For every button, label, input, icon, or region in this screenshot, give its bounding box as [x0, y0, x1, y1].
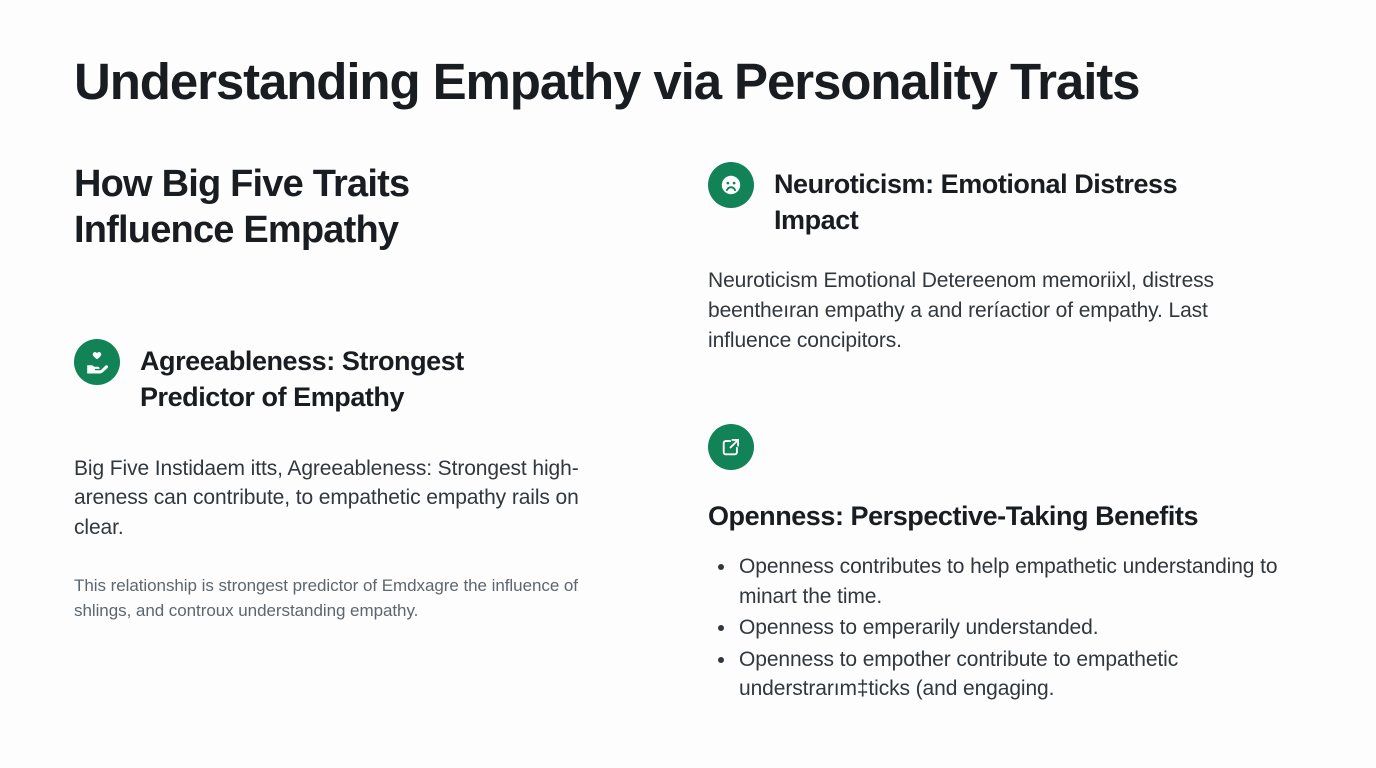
external-link-icon — [708, 424, 754, 470]
hand-holding-heart-icon — [74, 339, 120, 385]
neuroticism-block: Neuroticism: Emotional Distress Impact N… — [708, 162, 1348, 356]
openness-block-head: Openness: Perspective-Taking Benefits — [708, 424, 1348, 535]
left-column: How Big Five Traits Influence Empathy Ag… — [74, 162, 674, 623]
agreeableness-block-head: Agreeableness: Strongest Predictor of Em… — [74, 339, 650, 415]
left-section-heading: How Big Five Traits Influence Empathy — [74, 162, 544, 253]
neuroticism-title: Neuroticism: Emotional Distress Impact — [774, 162, 1204, 238]
list-item: Openness to empother contribute to empat… — [708, 645, 1308, 704]
list-item: Openness contributes to help empathetic … — [708, 552, 1308, 611]
agreeableness-block: Agreeableness: Strongest Predictor of Em… — [74, 339, 650, 623]
agreeableness-note: This relationship is strongest predictor… — [74, 573, 586, 623]
right-column: Neuroticism: Emotional Distress Impact N… — [708, 162, 1348, 705]
list-item: Openness to emperarily understanded. — [708, 613, 1308, 642]
neuroticism-body: Neuroticism Emotional Detereenom memorii… — [708, 266, 1264, 355]
slide-canvas: Understanding Empathy via Personality Tr… — [0, 0, 1376, 768]
page-title: Understanding Empathy via Personality Tr… — [74, 54, 1304, 110]
openness-block: Openness: Perspective-Taking Benefits Op… — [708, 424, 1348, 704]
openness-bullet-list: Openness contributes to help empathetic … — [708, 552, 1348, 703]
agreeableness-body: Big Five Instidaem itts, Agreeableness: … — [74, 454, 630, 543]
openness-title: Openness: Perspective-Taking Benefits — [708, 499, 1348, 535]
content-columns: How Big Five Traits Influence Empathy Ag… — [74, 162, 1304, 705]
neuroticism-block-head: Neuroticism: Emotional Distress Impact — [708, 162, 1348, 238]
agreeableness-title: Agreeableness: Strongest Predictor of Em… — [140, 339, 570, 415]
sad-face-icon — [708, 162, 754, 208]
